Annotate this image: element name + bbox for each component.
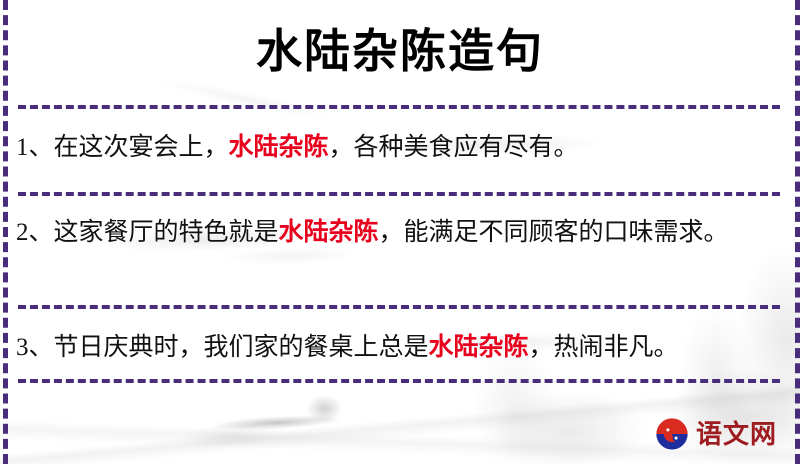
sentence-1-text-after: ，各种美食应有尽有。 xyxy=(329,134,579,161)
sentence-item-1: 1、在这次宴会上，水陆杂陈，各种美食应有尽有。 xyxy=(16,127,782,168)
page-title: 水陆杂陈造句 xyxy=(0,22,800,82)
sentence-3-text-before: 节日庆典时，我们家的餐桌上总是 xyxy=(54,334,429,361)
sentence-3-idiom-highlight: 水陆杂陈 xyxy=(429,334,529,361)
sentence-1-number: 1、 xyxy=(16,134,54,161)
sentence-item-3: 3、节日庆典时，我们家的餐桌上总是水陆杂陈，热闹非凡。 xyxy=(16,327,782,368)
sentence-item-2: 2、这家餐厅的特色就是水陆杂陈，能满足不同顾客的口味需求。 xyxy=(16,212,782,253)
dashed-separator-3 xyxy=(18,305,780,309)
sentence-2-text-after: ，能满足不同顾客的口味需求。 xyxy=(379,219,729,246)
sentence-3-text-after: ，热闹非凡。 xyxy=(529,334,679,361)
sentence-1-idiom-highlight: 水陆杂陈 xyxy=(229,134,329,161)
sentence-2-idiom-highlight: 水陆杂陈 xyxy=(279,219,379,246)
dashed-border-right xyxy=(795,0,800,464)
site-logo-text: 语文网 xyxy=(696,419,777,449)
dashed-separator-2 xyxy=(18,192,780,196)
page-root: 水陆杂陈造句 1、在这次宴会上，水陆杂陈，各种美食应有尽有。 2、这家餐厅的特色… xyxy=(0,0,800,464)
dashed-separator-4 xyxy=(18,379,780,383)
sentence-1-text-before: 在这次宴会上， xyxy=(54,134,229,161)
dashed-separator-1 xyxy=(18,105,780,109)
site-logo[interactable]: 语文网 xyxy=(655,417,777,451)
dashed-border-left xyxy=(3,0,8,464)
sentence-2-text-before: 这家餐厅的特色就是 xyxy=(54,219,279,246)
yin-yang-circle-logo-icon xyxy=(655,417,689,451)
watermark-boat xyxy=(149,392,381,450)
sentence-2-number: 2、 xyxy=(16,219,54,246)
sentence-3-number: 3、 xyxy=(16,334,54,361)
